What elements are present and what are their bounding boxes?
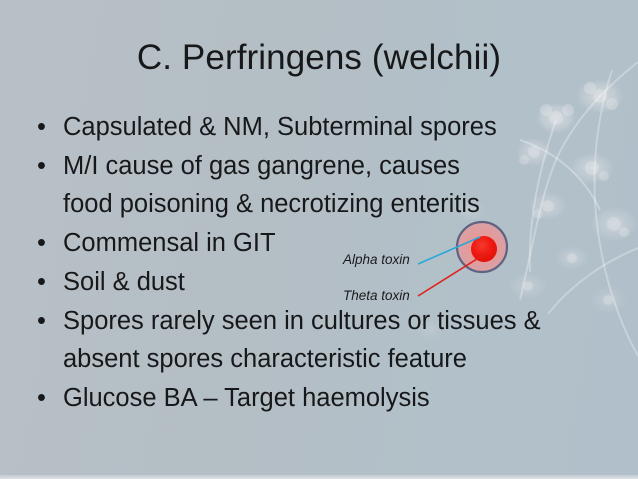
bullet-marker: • (37, 147, 46, 185)
bullet-marker: • (37, 379, 46, 417)
bullet-marker: • (37, 263, 46, 301)
bullet-marker: • (37, 224, 46, 262)
list-item: • Capsulated & NM, Subterminal spores (33, 108, 553, 146)
presentation-slide: C. Perfringens (welchii) • Capsulated & … (0, 0, 638, 479)
list-item-text: Capsulated & NM, Subterminal spores (63, 108, 553, 146)
list-item-text: M/I cause of gas gangrene, causes food p… (63, 147, 493, 223)
list-item: • Glucose BA – Target haemolysis (33, 379, 553, 417)
list-item-text: Glucose BA – Target haemolysis (63, 379, 553, 417)
target-haemolysis-diagram: Alpha toxin Theta toxin (330, 216, 530, 326)
alpha-toxin-label: Alpha toxin (343, 252, 410, 268)
bullet-marker: • (37, 108, 46, 146)
bullet-marker: • (37, 302, 46, 340)
list-item: • M/I cause of gas gangrene, causes food… (33, 147, 553, 223)
slide-title: C. Perfringens (welchii) (0, 36, 638, 80)
theta-toxin-label: Theta toxin (343, 288, 410, 304)
slide-bottom-edge (0, 475, 638, 479)
